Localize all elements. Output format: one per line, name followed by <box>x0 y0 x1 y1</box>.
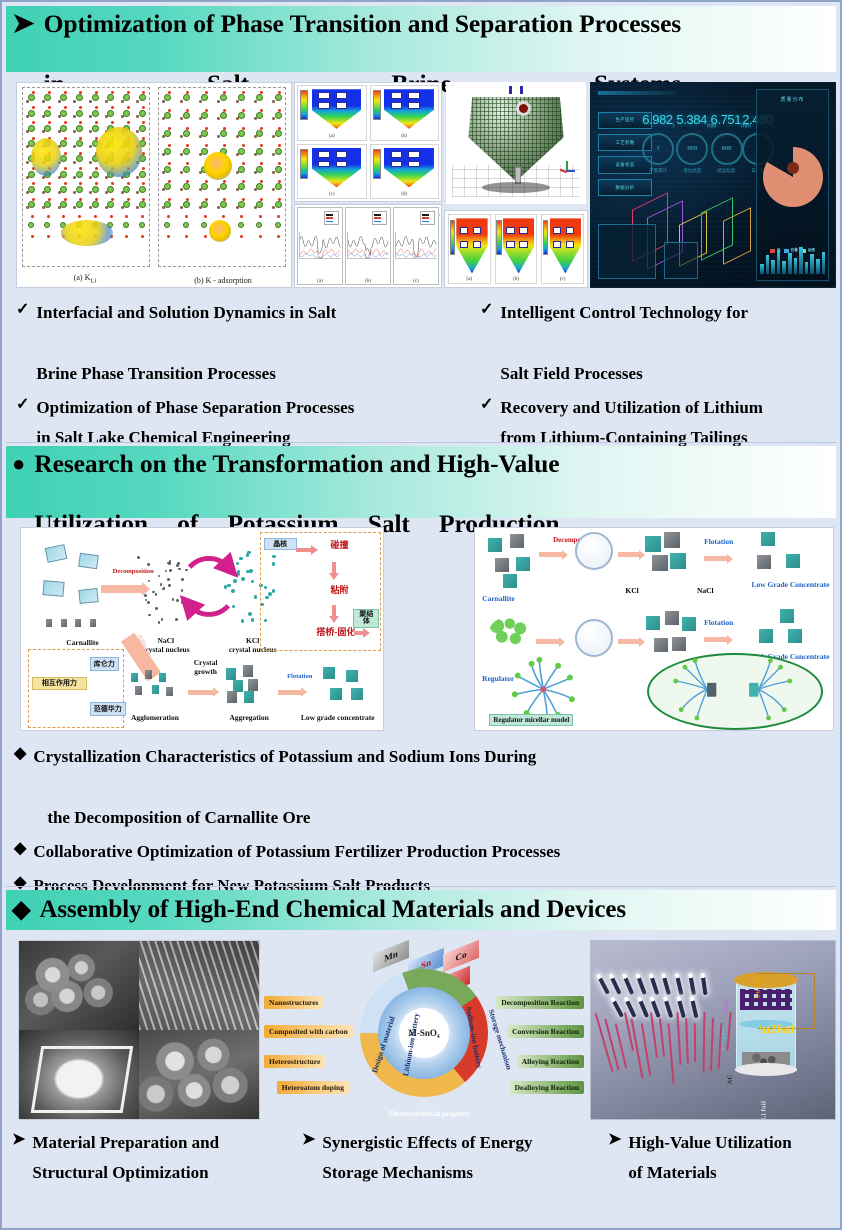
cyclic-arrow-icon <box>180 546 238 627</box>
led-battery-device-photo: \u26a1 Cu foil MnF₂ Celgard AC Li foil <box>590 940 836 1120</box>
diamond-icon: ◆ <box>14 742 26 765</box>
cfd-row-cell-2: (c) <box>541 214 584 284</box>
section-divider-2 <box>6 886 836 887</box>
scada-kpi-ring-2: mm <box>711 133 743 165</box>
scada-mid-subpanel[interactable] <box>664 242 698 279</box>
arrow-decomp-top <box>539 552 563 557</box>
check-icon: ✓ <box>16 393 29 416</box>
ring-label-electrochem: Electrochemical property <box>389 1109 471 1118</box>
list-item: ✓ Recovery and Utilization of Lithium fr… <box>480 393 832 454</box>
line-chart-legend-0 <box>324 211 339 225</box>
wire <box>667 1023 674 1083</box>
chip-coulomb-force: 库仑力 <box>90 657 119 671</box>
led-icon <box>622 973 634 995</box>
dft-charge-density-figure: (a) KLi (b) K - adsorption <box>16 82 292 288</box>
cfd-contour-row: (a)(b)(c) <box>444 210 588 288</box>
cfd-cell-label-2: (c) <box>298 192 366 197</box>
bullet-text: Intelligent Control Technology for <box>500 298 748 359</box>
wire <box>605 1018 620 1070</box>
arrow-to-bridge <box>332 605 336 617</box>
flow-label-flotation: Flotation <box>271 673 329 680</box>
line-chart-label-1: (b) <box>346 279 390 284</box>
ring-label-storage: Storage mechanism <box>487 1008 514 1071</box>
line-chart-row: (a)(b)(c) <box>294 204 442 288</box>
led-icon <box>689 996 698 1018</box>
arrow-vesicle-bottom <box>618 639 640 644</box>
sem-panel-2 <box>139 941 259 1030</box>
list-item: ◆ Crystallization Characteristics of Pot… <box>14 742 724 833</box>
flot-label-flotation-top: Flotation <box>704 538 733 547</box>
line-chart-legend-2 <box>420 211 435 225</box>
flot-label-flotation-bottom: Flotation <box>704 619 733 628</box>
arrow-regulator <box>536 639 560 644</box>
check-icon: ✓ <box>480 298 493 321</box>
vesicle-bottom <box>575 619 613 657</box>
wire <box>694 1023 696 1062</box>
dft-caption-b: (b) K - adsorption <box>160 276 286 285</box>
dft-caption-a-subscript: Li <box>90 278 96 285</box>
wheel-tag-left-0: Nanostructures <box>264 996 323 1009</box>
bullet-text: Synergistic Effects of Energy <box>322 1128 532 1158</box>
led-icon <box>701 973 708 995</box>
bullet-text: Crystallization Characteristics of Potas… <box>33 742 536 803</box>
bullet-text: High-Value Utilization <box>628 1128 791 1158</box>
scada-kpi-value-2: 6.751 <box>711 112 742 127</box>
wheel-tag-right-0: Decomposition Reaction <box>496 996 584 1009</box>
scada-donut-chart <box>763 147 823 207</box>
cube-mn: Mn <box>373 940 409 973</box>
bullet-text-cont: of Materials <box>628 1158 791 1188</box>
arrow-vesicle-top <box>618 552 640 557</box>
cfd-cell-0: (a) <box>297 85 367 141</box>
check-icon: ✓ <box>16 298 29 321</box>
flot-label-carnallite: Carnallite <box>482 595 515 604</box>
cfd-cell-1: (b) <box>370 85 440 141</box>
scada-kpi-caption-0: 产量累计 <box>642 168 674 174</box>
wire <box>676 1012 681 1065</box>
section-divider-1 <box>6 442 836 443</box>
wheel-tag-right-1: Conversion Reaction <box>507 1025 584 1038</box>
wire <box>685 1018 689 1064</box>
section-1-header: ➤ Optimization of Phase Transition and S… <box>6 6 836 72</box>
bullet-text-cont: Storage Mechanisms <box>322 1158 532 1188</box>
bullet-text-cont: the Decomposition of Carnallite Ore <box>33 803 536 833</box>
arrow-crystal-growth <box>188 690 214 695</box>
wheel-tag-left-1: Composited with carbon <box>264 1025 353 1038</box>
wire <box>702 1012 705 1073</box>
energy-storage-strategy-wheel: Mn Sn Co Zn ··· M-SnO₄ Design of materia… <box>264 936 584 1122</box>
flot-label-nacl: NaCl <box>697 587 714 596</box>
scada-button-3[interactable]: 数据分析 <box>598 179 651 196</box>
cfd-cell-2: (c) <box>297 144 367 200</box>
graphical-abstract-poster: ➤ Optimization of Phase Transition and S… <box>0 0 842 1230</box>
vesicle-top <box>575 532 613 570</box>
chip-nucleus: 晶核 <box>264 538 297 550</box>
arrow-icon: ➤ <box>302 1128 315 1151</box>
led-icon <box>688 973 696 995</box>
arrow-to-aggregate <box>354 631 364 635</box>
section-1-bullets-left: ✓ Interfacial and Solution Dynamics in S… <box>16 298 466 457</box>
wheel-tag-right-3: Dealloying Reaction <box>510 1081 584 1094</box>
cfd-row-label-1: (b) <box>496 277 537 282</box>
section-3-title: Assembly of High-End Chemical Materials … <box>39 895 626 925</box>
device-label-ac: AC <box>726 1075 733 1085</box>
flow-label-carnallite: Carnallite <box>35 639 129 648</box>
led-icon <box>648 973 659 995</box>
regulator-cluster <box>489 617 529 647</box>
line-chart-label-2: (c) <box>394 279 438 284</box>
wire <box>641 1023 651 1076</box>
led-icon <box>609 973 622 995</box>
list-item: ✓ Intelligent Control Technology for Sal… <box>480 298 832 389</box>
section-2-header: ● Research on the Transformation and Hig… <box>6 446 836 518</box>
led-icon <box>637 996 649 1018</box>
led-icon <box>663 996 674 1018</box>
arrow-icon: ➤ <box>608 1128 621 1151</box>
led-icon <box>661 973 671 995</box>
scada-bar-chart <box>760 240 825 274</box>
sem-panel-3 <box>19 1030 139 1119</box>
arrow-flotation <box>278 690 302 695</box>
chip-interaction-force: 相互作用力 <box>32 677 87 689</box>
wheel-tag-right-2: Alloying Reaction <box>517 1055 584 1068</box>
wire <box>726 1012 731 1051</box>
device-label-mnf2: MnF₂ <box>723 996 730 1013</box>
line-chart-legend-1 <box>372 211 387 225</box>
device-label-li-foil: Li foil <box>761 1100 768 1119</box>
list-item: ◆ Collaborative Optimization of Potassiu… <box>14 837 724 867</box>
scada-kpi-2: 6.751mm mm 结晶粒度 <box>711 112 743 175</box>
led-icon <box>635 973 646 995</box>
section-2-title-line-1: Research on the Transformation and High-… <box>34 449 559 509</box>
scada-kpi-ring-0: t <box>642 133 674 165</box>
cfd-cell-label-1: (b) <box>371 134 439 139</box>
bullet-text: Material Preparation and <box>32 1128 219 1158</box>
section-3-header: ◆ Assembly of High-End Chemical Material… <box>6 890 836 930</box>
chip-vdw-force: 范德华力 <box>90 702 126 716</box>
bullet-text: Optimization of Phase Separation Process… <box>36 393 354 423</box>
arrow-to-collision <box>296 548 312 552</box>
list-item: ➤ High-Value Utilization of Materials <box>608 1128 828 1189</box>
arrow-flotation-bottom <box>704 637 728 642</box>
spark-icon: \u26a1 <box>759 1021 796 1037</box>
line-chart-label-0: (a) <box>298 279 342 284</box>
arrow-icon: ➤ <box>12 1128 25 1151</box>
list-item: ➤ Synergistic Effects of Energy Storage … <box>302 1128 602 1189</box>
label-collision: 碰撞 <box>318 540 361 550</box>
device-label-cu-foil: Cu foil <box>755 976 762 998</box>
cfd-row-cell-0: (a) <box>448 214 491 284</box>
cfd-cell-label-0: (a) <box>298 134 366 139</box>
led-icon <box>610 997 624 1018</box>
flow-label-aggregation: Aggregation <box>213 714 285 723</box>
list-item: ✓ Interfacial and Solution Dynamics in S… <box>16 298 466 389</box>
section-3-bullets: ➤ Material Preparation and Structural Op… <box>12 1128 834 1193</box>
check-icon: ✓ <box>480 393 493 416</box>
flot-label-low-grade: Low Grade Concentrate <box>752 581 830 590</box>
list-item: ➤ Material Preparation and Structural Op… <box>12 1128 296 1189</box>
3d-mesh-hopper-model <box>446 82 586 204</box>
scada-kpi-0: 6.982t t 产量累计 <box>642 112 674 175</box>
scada-kpi-1: 5.384mm mm 液位高度 <box>676 112 708 175</box>
wheel-tag-left-2: Heterostructure <box>264 1055 325 1068</box>
flot-label-kcl: KCl <box>625 587 638 596</box>
line-chart-0: (a) <box>297 207 343 285</box>
led-icon <box>596 973 610 994</box>
sem-micrograph-grid <box>18 940 260 1120</box>
scada-left-subpanel[interactable] <box>598 224 656 279</box>
wire <box>710 1018 714 1071</box>
scada-dashboard[interactable]: 生产监控 工艺参数 设备状态 数据分析 6.982t t 产量累计 5.384m… <box>590 82 836 288</box>
cfd-contour-grid: (a)(b)(c)(d) <box>294 82 442 202</box>
section-1-bullets-right: ✓ Intelligent Control Technology for Sal… <box>480 298 832 457</box>
line-chart-1: (b) <box>345 207 391 285</box>
scada-right-panel-title: 质量分布 <box>757 96 828 103</box>
led-icon <box>674 973 683 995</box>
bullet-text: Collaborative Optimization of Potassium … <box>33 837 560 867</box>
arrow-to-adhesion <box>332 562 336 574</box>
wire <box>659 1018 665 1057</box>
bullet-text: Interfacial and Solution Dynamics in Sal… <box>36 298 336 359</box>
axis-triad-icon <box>560 161 576 177</box>
diamond-icon: ◆ <box>14 837 26 860</box>
scada-kpi-caption-1: 液位高度 <box>676 168 708 174</box>
scada-kpi-value-1: 5.384 <box>676 112 707 127</box>
micelle-inset-left-icon <box>661 657 725 722</box>
wheel-tag-left-3: Heteroatom doping <box>277 1081 349 1094</box>
scada-right-panel[interactable]: 质量分布 盐 石膏 杂质 <box>756 89 829 281</box>
chip-micellar-model: Regulator micellar model <box>489 714 573 726</box>
dft-caption-a: (a) KLi <box>22 273 148 285</box>
bullet-text: Recovery and Utilization of Lithium <box>500 393 763 423</box>
bullet-text-cont: Salt Field Processes <box>500 359 748 389</box>
scada-kpi-ring-1: mm <box>676 133 708 165</box>
list-item: ✓ Optimization of Phase Separation Proce… <box>16 393 466 454</box>
cfd-cell-label-3: (d) <box>371 192 439 197</box>
section-2-marker-icon: ● <box>12 449 25 479</box>
cfd-row-cell-1: (b) <box>495 214 538 284</box>
bullet-text-cont: Structural Optimization <box>32 1158 219 1188</box>
section-1-title-line-1: Optimization of Phase Transition and Sep… <box>44 9 682 69</box>
sem-panel-4 <box>139 1030 259 1119</box>
cfd-row-label-2: (c) <box>542 277 583 282</box>
micelle-inset-right-icon <box>740 657 804 722</box>
test-tube-gradient-strip <box>438 214 440 216</box>
dft-panel-b <box>158 87 286 267</box>
scada-kpi-unit-0: t <box>673 123 674 129</box>
scada-kpi-value-0: 6.982 <box>642 112 673 127</box>
carnallite-decomposition-flow-diagram: Carnallite Decomposition NaCl crystal nu… <box>20 527 384 731</box>
flotation-regulator-diagram: Carnallite Decomposition Flotation Low G… <box>474 527 834 731</box>
scada-kpi-caption-2: 结晶粒度 <box>711 168 743 174</box>
chip-aggregate: 聚结体 <box>353 609 379 628</box>
line-chart-2: (c) <box>393 207 439 285</box>
label-adhesion-cn: 粘附 <box>318 585 361 595</box>
dft-panel-a <box>22 87 150 267</box>
section-2-bullets: ◆ Crystallization Characteristics of Pot… <box>14 742 724 905</box>
bullet-text-cont: Brine Phase Transition Processes <box>36 359 336 389</box>
wire <box>650 1012 658 1058</box>
cfd-row-label-0: (a) <box>449 277 490 282</box>
cube-co: Co <box>443 940 479 973</box>
flow-label-agglomeration: Agglomeration <box>115 714 195 723</box>
sem-panel-1 <box>19 941 139 1030</box>
section-3-marker-icon: ◆ <box>12 898 30 922</box>
cfd-cell-3: (d) <box>370 144 440 200</box>
arrow-flotation-top <box>704 556 728 561</box>
flow-label-low-grade: Low grade concentrate <box>293 714 384 723</box>
section-1-marker-icon: ➤ <box>12 9 35 38</box>
